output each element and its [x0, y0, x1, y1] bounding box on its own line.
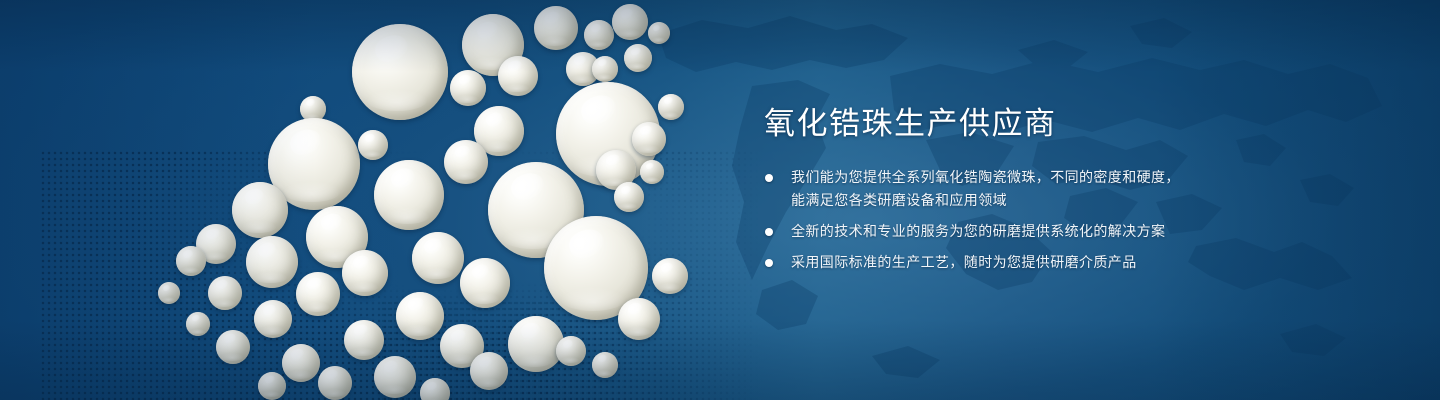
list-item-label: 全新的技术和专业的服务为您的研磨提供系统化的解决方案 — [791, 223, 1165, 239]
list-item: 我们能为您提供全系列氧化锆陶瓷微珠，不同的密度和硬度，能满足您各类研磨设备和应用… — [764, 166, 1284, 212]
bullet-dot-icon — [765, 259, 773, 267]
list-item-label-continued: 能满足您各类研磨设备和应用领域 — [791, 189, 1284, 212]
hero-banner: 氧化锆珠生产供应商 我们能为您提供全系列氧化锆陶瓷微珠，不同的密度和硬度，能满足… — [0, 0, 1440, 400]
bullet-dot-icon — [765, 228, 773, 236]
bullet-dot-icon — [765, 174, 773, 182]
feature-bullet-list: 我们能为您提供全系列氧化锆陶瓷微珠，不同的密度和硬度，能满足您各类研磨设备和应用… — [764, 166, 1284, 274]
list-item-label: 我们能为您提供全系列氧化锆陶瓷微珠，不同的密度和硬度， — [791, 169, 1180, 185]
list-item: 采用国际标准的生产工艺，随时为您提供研磨介质产品 — [764, 251, 1284, 274]
list-item: 全新的技术和专业的服务为您的研磨提供系统化的解决方案 — [764, 220, 1284, 243]
page-title: 氧化锆珠生产供应商 — [764, 104, 1284, 144]
banner-text-block: 氧化锆珠生产供应商 我们能为您提供全系列氧化锆陶瓷微珠，不同的密度和硬度，能满足… — [764, 104, 1284, 274]
list-item-label: 采用国际标准的生产工艺，随时为您提供研磨介质产品 — [791, 254, 1137, 270]
